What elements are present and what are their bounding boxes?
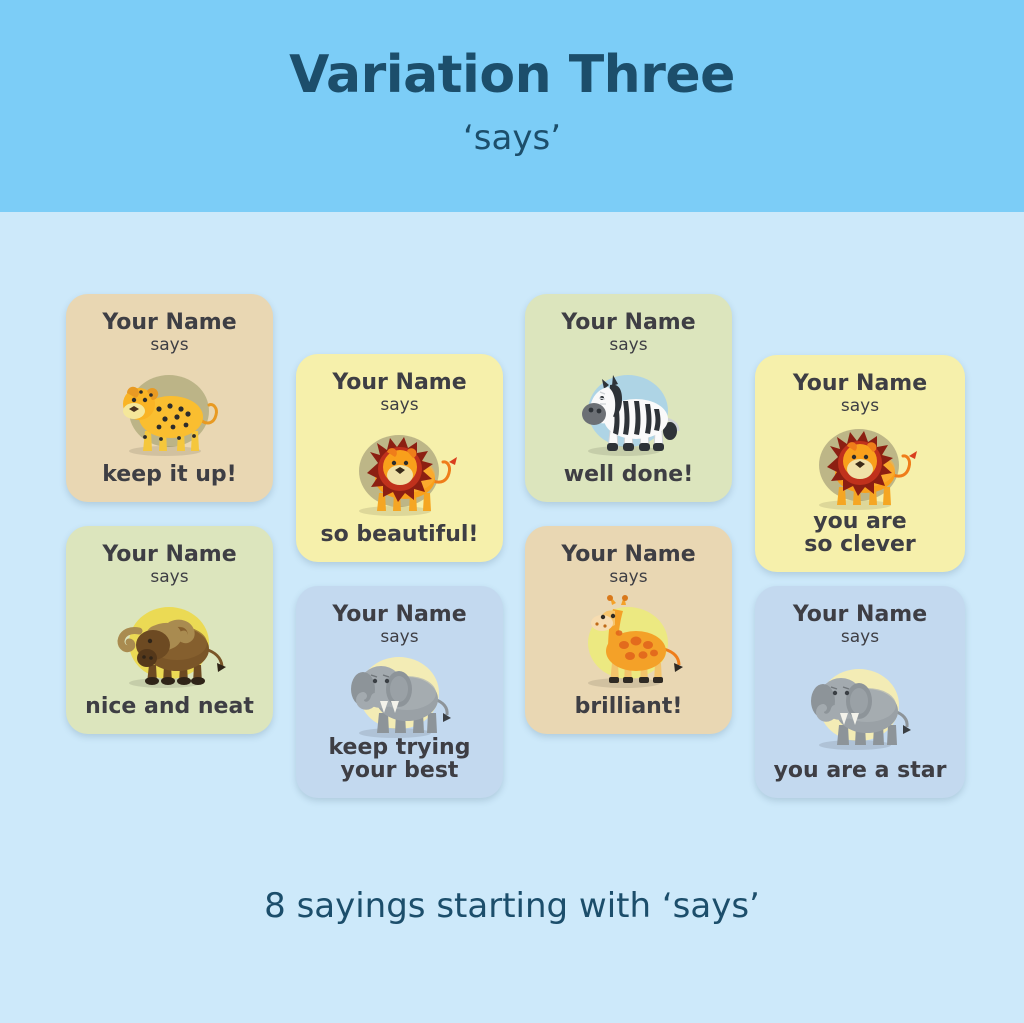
sticker-message: you are so clever bbox=[796, 510, 923, 573]
sticker-says-label: says bbox=[380, 397, 418, 415]
sticker-name-label: Your Name bbox=[332, 603, 466, 626]
sticker-message: brilliant! bbox=[567, 695, 691, 734]
sticker-keep-it-up[interactable]: Your Namesayskeep it up! bbox=[66, 294, 273, 502]
lion-icon bbox=[296, 415, 503, 523]
sticker-message: keep trying your best bbox=[321, 736, 479, 799]
sticker-message: so beautiful! bbox=[313, 523, 487, 562]
sticker-name-label: Your Name bbox=[793, 372, 927, 395]
sticker-message: keep it up! bbox=[94, 463, 244, 502]
sticker-you-are-so-clever[interactable]: Your Namesaysyou are so clever bbox=[755, 355, 965, 572]
giraffe-icon bbox=[525, 587, 732, 695]
sticker-name-label: Your Name bbox=[561, 543, 695, 566]
sticker-name-label: Your Name bbox=[561, 311, 695, 334]
sticker-says-label: says bbox=[609, 569, 647, 587]
leopard-icon bbox=[66, 355, 273, 463]
sticker-name-label: Your Name bbox=[102, 543, 236, 566]
sticker-message: well done! bbox=[556, 463, 701, 502]
sticker-message: you are a star bbox=[766, 759, 955, 798]
sticker-message: nice and neat bbox=[77, 695, 262, 734]
sticker-says-label: says bbox=[150, 337, 188, 355]
elephant-icon bbox=[296, 647, 503, 736]
sticker-nice-and-neat[interactable]: Your Namesaysnice and neat bbox=[66, 526, 273, 734]
sticker-keep-trying-your-best[interactable]: Your Namesayskeep trying your best bbox=[296, 586, 503, 798]
sticker-name-label: Your Name bbox=[332, 371, 466, 394]
sticker-board: Your Namesayskeep it up!Your Namesaysso … bbox=[0, 0, 1024, 1023]
buffalo-icon bbox=[66, 587, 273, 695]
sticker-so-beautiful[interactable]: Your Namesaysso beautiful! bbox=[296, 354, 503, 562]
sticker-well-done[interactable]: Your Namesayswell done! bbox=[525, 294, 732, 502]
sticker-name-label: Your Name bbox=[793, 603, 927, 626]
sticker-says-label: says bbox=[841, 629, 879, 647]
sticker-says-label: says bbox=[150, 569, 188, 587]
lion-icon bbox=[755, 416, 965, 510]
sticker-you-are-a-star[interactable]: Your Namesaysyou are a star bbox=[755, 586, 965, 798]
elephant-icon bbox=[755, 647, 965, 759]
footer-note: 8 sayings starting with ‘says’ bbox=[0, 886, 1024, 926]
sticker-name-label: Your Name bbox=[102, 311, 236, 334]
sticker-brilliant[interactable]: Your Namesaysbrilliant! bbox=[525, 526, 732, 734]
sticker-says-label: says bbox=[609, 337, 647, 355]
zebra-icon bbox=[525, 355, 732, 463]
